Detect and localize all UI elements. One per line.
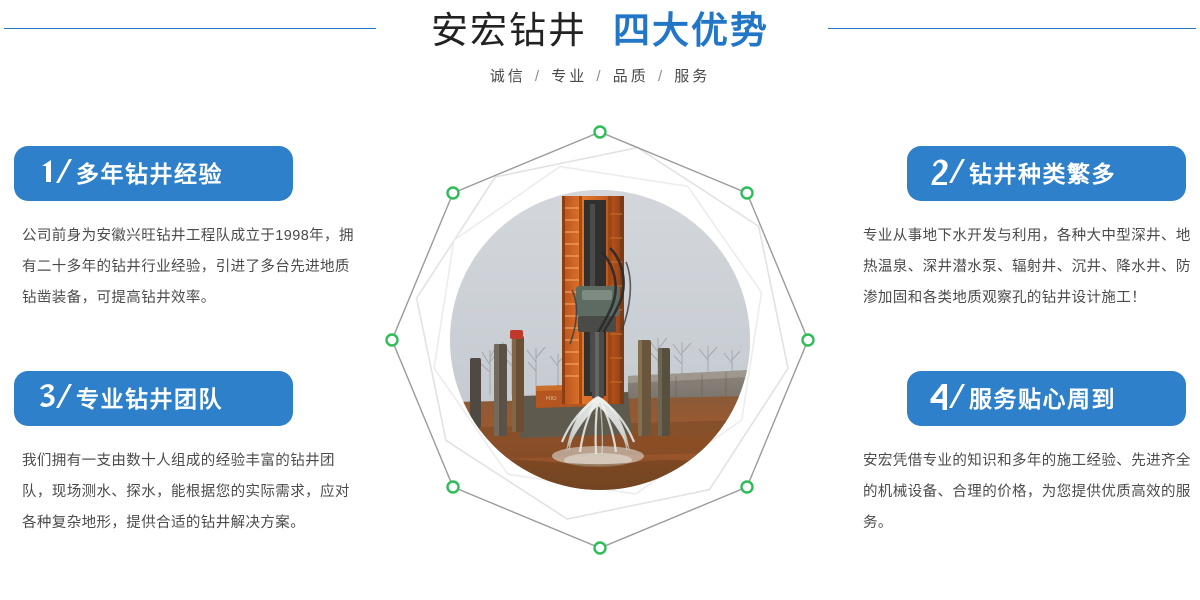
ring-node-right — [803, 335, 814, 346]
title-company: 安宏钻井 — [431, 8, 587, 54]
feature-badge-1: 多年钻井经验 — [14, 146, 293, 201]
feature-title-1: 多年钻井经验 — [76, 159, 223, 189]
ring-node-left — [387, 335, 398, 346]
drilling-rig-photo-icon: RIG — [450, 190, 750, 490]
header-subtitle: 诚信 / 专业 / 品质 / 服务 — [0, 66, 1200, 88]
number-4-icon — [929, 381, 969, 415]
feature-title-4: 服务贴心周到 — [969, 384, 1116, 414]
feature-body-2: 专业从事地下水开发与利用，各种大中型深井、地热温泉、深井潜水泵、辐射井、沉井、降… — [863, 221, 1193, 314]
feature-card-2[interactable]: 钻井种类繁多 专业从事地下水开发与利用，各种大中型深井、地热温泉、深井潜水泵、辐… — [841, 146, 1186, 314]
feature-card-1[interactable]: 多年钻井经验 公司前身为安徽兴旺钻井工程队成立于1998年，拥有二十多年的钻井行… — [14, 146, 359, 314]
subtitle-item-0: 诚信 — [490, 68, 526, 85]
number-1-icon — [36, 156, 76, 190]
feature-title-3: 专业钻井团队 — [76, 384, 223, 414]
subtitle-separator-0: / — [533, 68, 544, 85]
feature-badge-3: 专业钻井团队 — [14, 371, 293, 426]
subtitle-separator-1: / — [594, 68, 605, 85]
title-highlight: 四大优势 — [613, 8, 769, 54]
feature-card-3[interactable]: 专业钻井团队 我们拥有一支由数十人组成的经验丰富的钻井团队，现场测水、探水，能根… — [14, 371, 359, 539]
subtitle-item-3: 服务 — [674, 68, 710, 85]
ring-node-bottom — [595, 543, 606, 554]
page-root: 安宏钻井 四大优势 诚信 / 专业 / 品质 / 服务 多年钻井经验 公司前身为… — [0, 0, 1200, 600]
center-photo: RIG — [450, 190, 750, 490]
feature-body-4: 安宏凭借专业的知识和多年的施工经验、先进齐全的机械设备、合理的价格，为您提供优质… — [863, 446, 1193, 539]
feature-title-2: 钻井种类繁多 — [969, 159, 1116, 189]
subtitle-separator-2: / — [656, 68, 667, 85]
number-3-icon — [36, 381, 76, 415]
page-header: 安宏钻井 四大优势 诚信 / 专业 / 品质 / 服务 — [0, 0, 1200, 110]
number-2-icon — [929, 156, 969, 190]
feature-badge-2: 钻井种类繁多 — [907, 146, 1186, 201]
page-title: 安宏钻井 四大优势 — [0, 8, 1200, 54]
subtitle-item-1: 专业 — [551, 68, 587, 85]
subtitle-item-2: 品质 — [613, 68, 649, 85]
feature-card-4[interactable]: 服务贴心周到 安宏凭借专业的知识和多年的施工经验、先进齐全的机械设备、合理的价格… — [841, 371, 1186, 539]
ring-node-top — [595, 127, 606, 138]
feature-body-3: 我们拥有一支由数十人组成的经验丰富的钻井团队，现场测水、探水，能根据您的实际需求… — [22, 446, 354, 539]
feature-badge-4: 服务贴心周到 — [907, 371, 1186, 426]
feature-body-1: 公司前身为安徽兴旺钻井工程队成立于1998年，拥有二十多年的钻井行业经验，引进了… — [22, 221, 354, 314]
svg-text:RIG: RIG — [546, 396, 557, 402]
center-graphic: RIG — [370, 110, 830, 570]
